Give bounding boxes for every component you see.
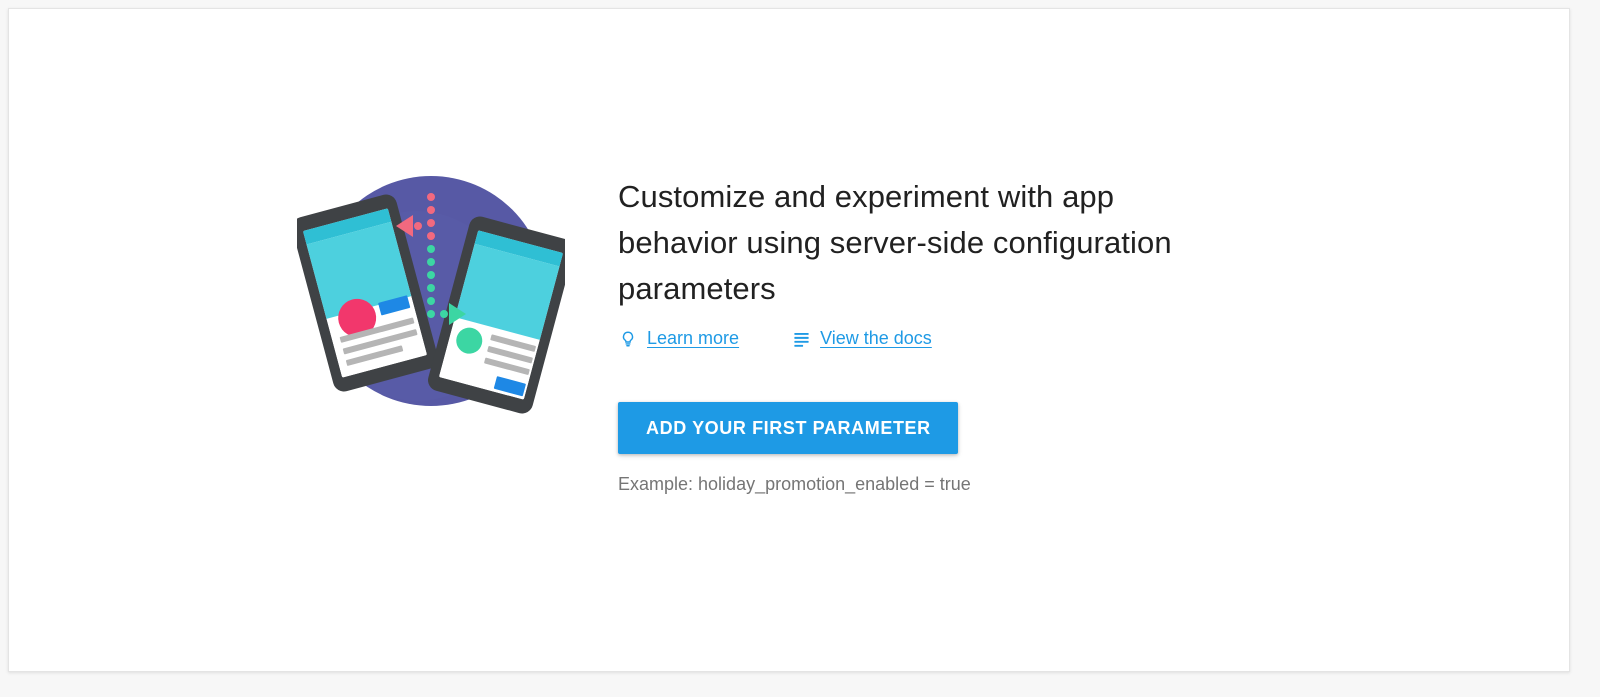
empty-state-card: Customize and experiment with app behavi… [8, 8, 1570, 672]
empty-state-content: Customize and experiment with app behavi… [618, 174, 1298, 495]
two-phones-remote-config-illustration [297, 161, 565, 421]
example-hint-text: Example: holiday_promotion_enabled = tru… [618, 474, 1298, 495]
learn-more-label: Learn more [647, 328, 739, 349]
add-first-parameter-button[interactable]: ADD YOUR FIRST PARAMETER [618, 402, 958, 454]
view-docs-link[interactable]: View the docs [791, 328, 932, 349]
page-headline: Customize and experiment with app behavi… [618, 174, 1218, 312]
learn-more-link[interactable]: Learn more [618, 328, 739, 349]
view-docs-label: View the docs [820, 328, 932, 349]
subject-icon [791, 329, 811, 349]
helper-links: Learn more View the docs [618, 328, 1298, 349]
page-root: Customize and experiment with app behavi… [0, 0, 1600, 697]
lightbulb-icon [618, 329, 638, 349]
